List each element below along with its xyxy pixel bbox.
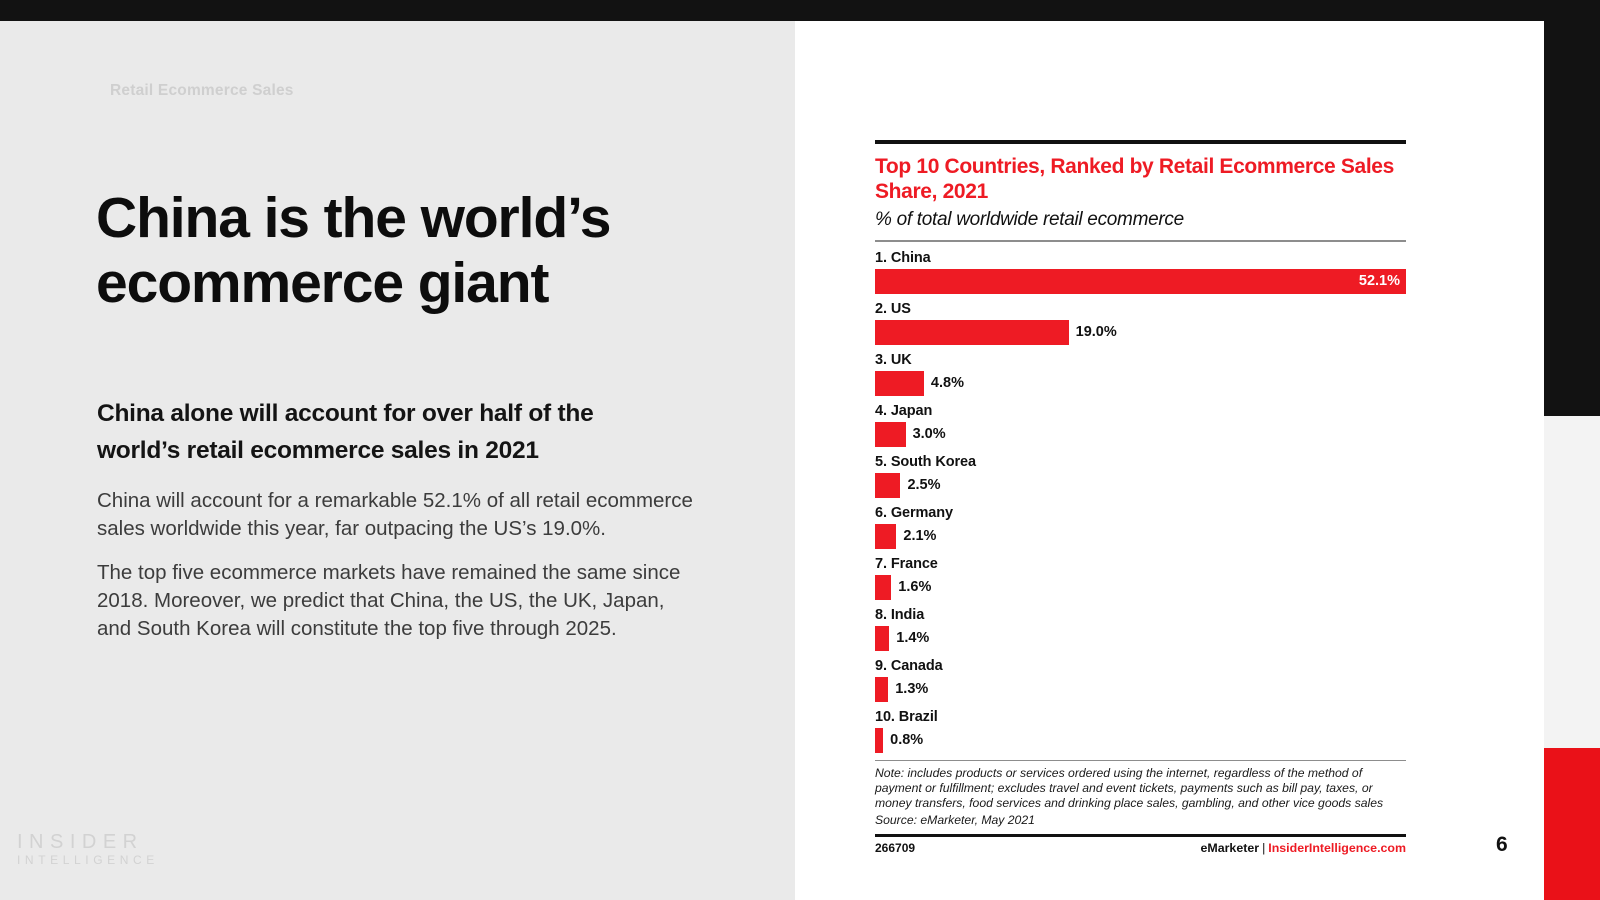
- bar-category-label: 1. China: [875, 250, 1406, 266]
- bar-row: 9. Canada1.3%: [875, 658, 1406, 702]
- body-paragraph-1: China will account for a remarkable 52.1…: [97, 487, 697, 543]
- brand-name: eMarketer: [1201, 841, 1260, 855]
- right-edge-gray-strip: [1544, 416, 1600, 748]
- bar-row: 2. US19.0%: [875, 301, 1406, 345]
- bar-fill: [875, 320, 1069, 345]
- chart-id: 266709: [875, 841, 915, 855]
- bar-category-label: 7. France: [875, 556, 1406, 572]
- bar-category-label: 5. South Korea: [875, 454, 1406, 470]
- bar-category-label: 6. Germany: [875, 505, 1406, 521]
- chart-bottom-rule: [875, 834, 1406, 837]
- bar-category-label: 10. Brazil: [875, 709, 1406, 725]
- page-title: China is the world’s ecommerce giant: [96, 186, 736, 316]
- bar-value-label: 3.0%: [906, 426, 946, 442]
- bar-line: 52.1%: [875, 269, 1406, 294]
- logo-line-intelligence: INTELLIGENCE: [17, 854, 159, 868]
- chart-footer: 266709 eMarketer|InsiderIntelligence.com: [875, 841, 1406, 855]
- page-number: 6: [1496, 833, 1508, 857]
- bar-fill: [875, 473, 900, 498]
- bar-line: 1.3%: [875, 677, 1406, 702]
- bar-value-label: 2.5%: [900, 477, 940, 493]
- bar-value-label: 2.1%: [896, 528, 936, 544]
- chart-note-rule: [875, 760, 1406, 762]
- bar-value-label: 19.0%: [1069, 324, 1117, 340]
- brand-credit: eMarketer|InsiderIntelligence.com: [1201, 841, 1407, 855]
- chart-card: Top 10 Countries, Ranked by Retail Ecomm…: [875, 140, 1406, 855]
- bar-line: 19.0%: [875, 320, 1406, 345]
- chart-source: Source: eMarketer, May 2021: [875, 813, 1406, 828]
- bar-row: 5. South Korea2.5%: [875, 454, 1406, 498]
- brand-url[interactable]: InsiderIntelligence.com: [1268, 841, 1406, 855]
- bar-line: 4.8%: [875, 371, 1406, 396]
- right-edge-red-strip: [1544, 748, 1600, 900]
- bar-row: 8. India1.4%: [875, 607, 1406, 651]
- bar-row: 7. France1.6%: [875, 556, 1406, 600]
- bar-line: 2.5%: [875, 473, 1406, 498]
- bar-row: 6. Germany2.1%: [875, 505, 1406, 549]
- bar-category-label: 4. Japan: [875, 403, 1406, 419]
- body-paragraph-2: The top five ecommerce markets have rema…: [97, 559, 697, 643]
- bar-value-label: 1.3%: [888, 681, 928, 697]
- bar-fill: [875, 626, 889, 651]
- bar-value-label: 1.6%: [891, 579, 931, 595]
- chart-note: Note: includes products or services orde…: [875, 766, 1406, 811]
- bar-category-label: 9. Canada: [875, 658, 1406, 674]
- bar-category-label: 2. US: [875, 301, 1406, 317]
- bar-row: 1. China52.1%: [875, 250, 1406, 294]
- bar-line: 1.4%: [875, 626, 1406, 651]
- bar-value-label: 4.8%: [924, 375, 964, 391]
- bar-fill: [875, 575, 891, 600]
- bar-value-label: 52.1%: [1359, 273, 1406, 289]
- eyebrow-label: Retail Ecommerce Sales: [110, 82, 294, 100]
- subheading: China alone will account for over half o…: [97, 396, 677, 470]
- chart-subtitle: % of total worldwide retail ecommerce: [875, 209, 1406, 231]
- bar-row: 10. Brazil0.8%: [875, 709, 1406, 753]
- bar-category-label: 8. India: [875, 607, 1406, 623]
- bar-line: 2.1%: [875, 524, 1406, 549]
- bar-value-label: 0.8%: [883, 732, 923, 748]
- bar-category-label: 3. UK: [875, 352, 1406, 368]
- right-edge-dark-strip: [1544, 0, 1600, 416]
- chart-header-rule: [875, 240, 1406, 242]
- bar-chart-plot: 1. China52.1%2. US19.0%3. UK4.8%4. Japan…: [875, 250, 1406, 753]
- chart-title: Top 10 Countries, Ranked by Retail Ecomm…: [875, 155, 1406, 204]
- bar-fill: [875, 422, 906, 447]
- bar-fill: [875, 677, 888, 702]
- chart-top-rule: [875, 140, 1406, 144]
- bar-fill: [875, 524, 896, 549]
- bar-fill: 52.1%: [875, 269, 1406, 294]
- bar-row: 4. Japan3.0%: [875, 403, 1406, 447]
- bar-fill: [875, 728, 883, 753]
- bar-line: 3.0%: [875, 422, 1406, 447]
- bar-line: 1.6%: [875, 575, 1406, 600]
- insider-intelligence-logo: INSIDER INTELLIGENCE: [17, 831, 159, 868]
- brand-separator: |: [1259, 841, 1268, 855]
- bar-value-label: 1.4%: [889, 630, 929, 646]
- bar-line: 0.8%: [875, 728, 1406, 753]
- bar-fill: [875, 371, 924, 396]
- slide-canvas: Retail Ecommerce Sales China is the worl…: [0, 0, 1600, 900]
- logo-line-insider: INSIDER: [17, 831, 159, 854]
- top-dark-bar: [0, 0, 1600, 21]
- bar-row: 3. UK4.8%: [875, 352, 1406, 396]
